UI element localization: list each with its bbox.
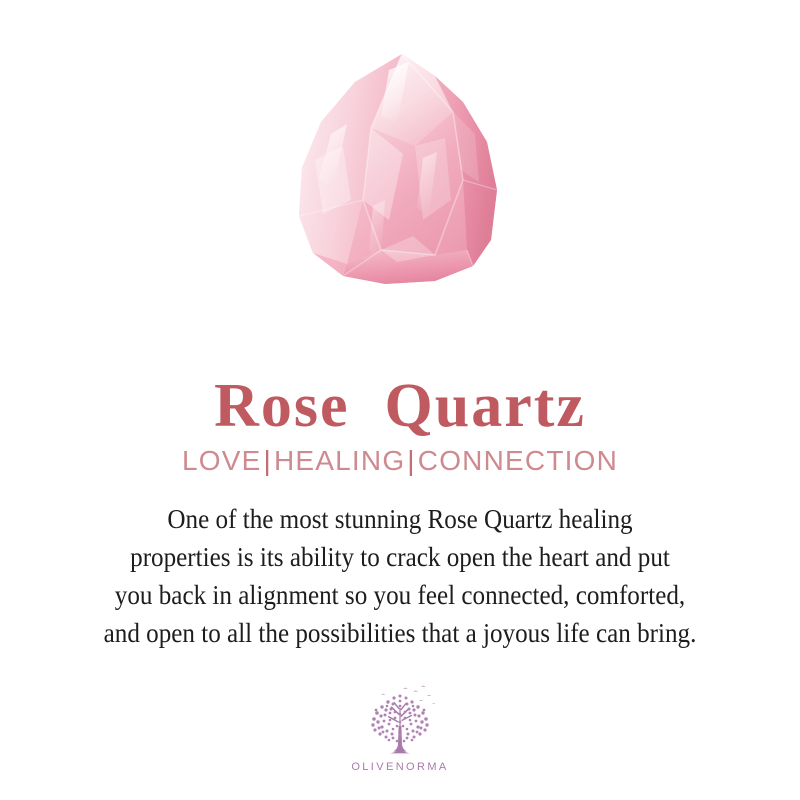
rose-quartz-crystal-icon (285, 50, 515, 290)
description-paragraph: One of the most stunning Rose Quartz hea… (56, 500, 744, 652)
keyword-separator-1: | (261, 445, 273, 476)
description-line: One of the most stunning Rose Quartz hea… (56, 500, 744, 538)
brand-logo: OLIVENORMA (0, 682, 800, 773)
keyword-healing: HEALING (274, 445, 405, 476)
keyword-tagline: LOVE|HEALING|CONNECTION (0, 444, 800, 478)
page-title: Rose Quartz (0, 374, 800, 438)
tree-with-birds-icon (357, 682, 443, 758)
keyword-separator-2: | (405, 445, 417, 476)
brand-name: OLIVENORMA (351, 761, 448, 773)
description-line: you back in alignment so you feel connec… (56, 576, 744, 614)
description-line: and open to all the possibilities that a… (56, 614, 744, 652)
product-image-container (0, 40, 800, 290)
description-line: properties is its ability to crack open … (56, 538, 744, 576)
keyword-love: LOVE (182, 445, 262, 476)
product-info-card: Rose Quartz LOVE|HEALING|CONNECTION One … (0, 0, 800, 800)
keyword-connection: CONNECTION (418, 445, 618, 476)
